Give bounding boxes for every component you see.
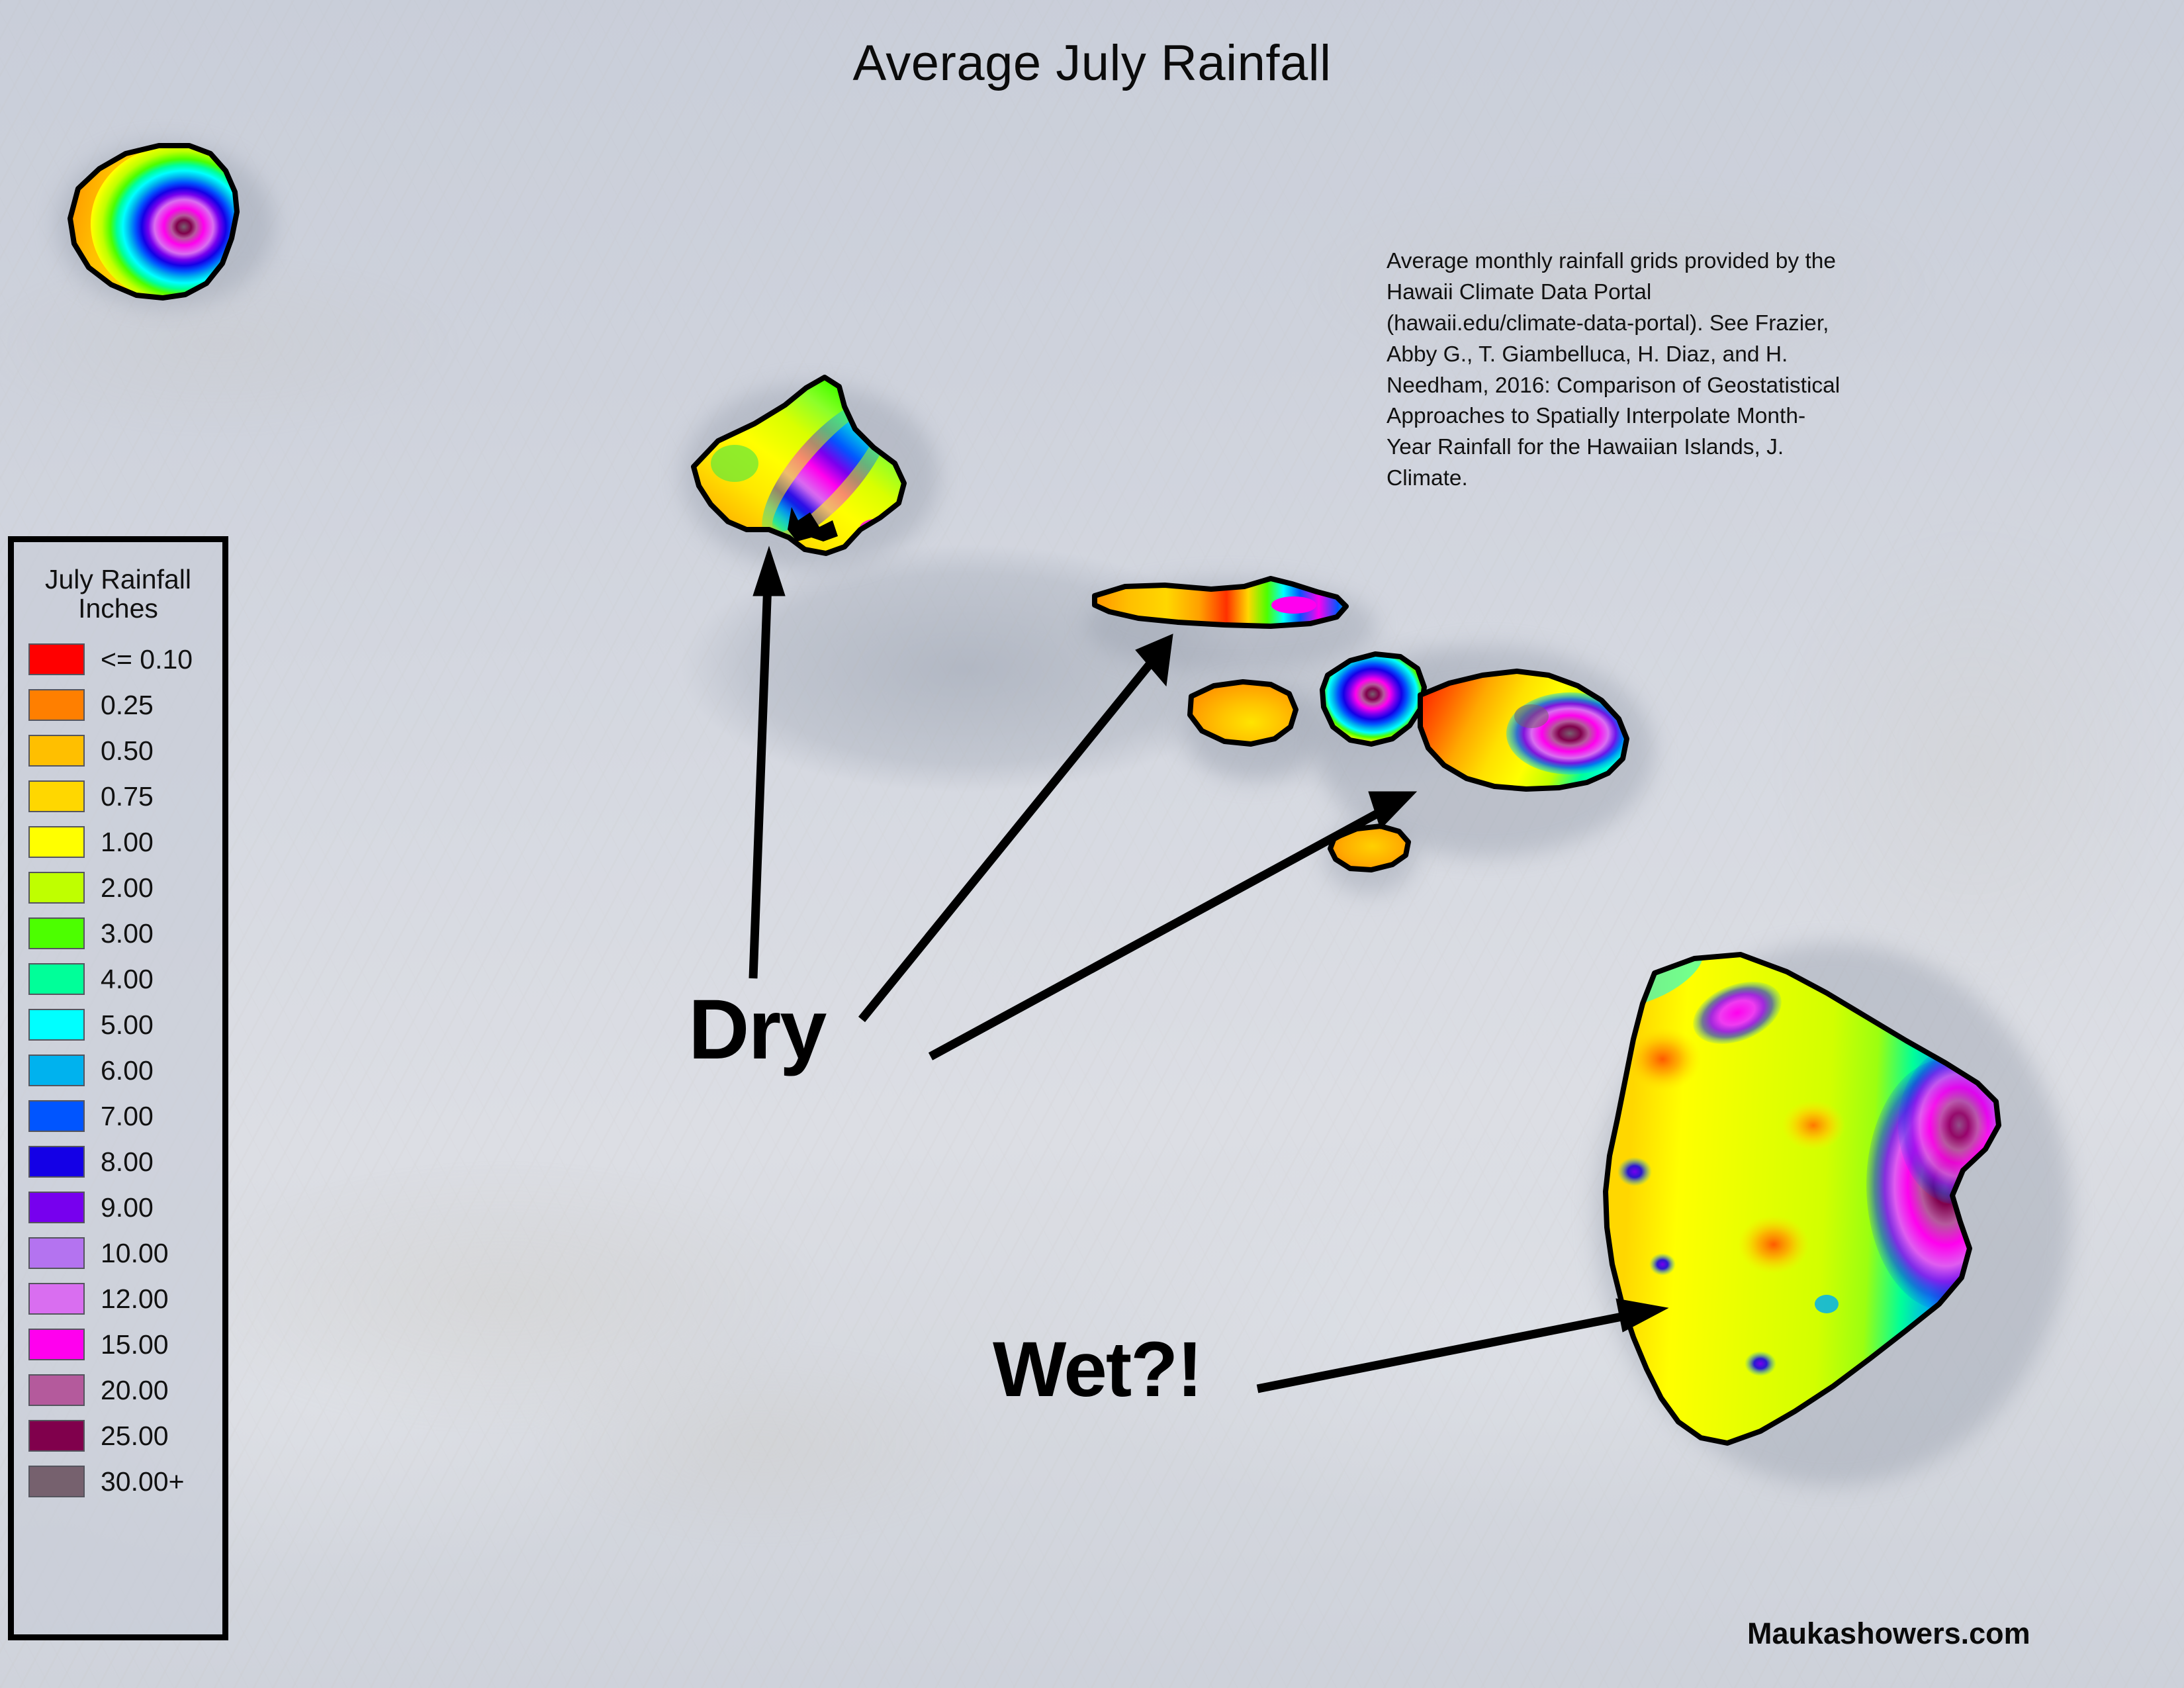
legend-title-line2: Inches <box>18 594 218 623</box>
legend-entry-label: 1.00 <box>101 827 154 858</box>
legend-color-swatch <box>28 1055 85 1086</box>
legend-entry: 7.00 <box>14 1094 222 1139</box>
legend-entry: <= 0.10 <box>14 637 222 682</box>
arrow-dry-to-oahu <box>753 547 785 978</box>
island-kauai <box>60 136 260 308</box>
legend-color-swatch <box>28 826 85 858</box>
legend-entry: 2.00 <box>14 865 222 911</box>
legend-color-swatch <box>28 1420 85 1452</box>
legend-color-swatch <box>28 780 85 812</box>
legend-color-swatch <box>28 1329 85 1360</box>
legend-color-swatch <box>28 689 85 721</box>
legend-entry-label: 0.75 <box>101 781 154 812</box>
legend-entry: 15.00 <box>14 1322 222 1368</box>
island-oahu <box>688 371 913 563</box>
legend-entry: 10.00 <box>14 1231 222 1276</box>
legend-entry-label: <= 0.10 <box>101 644 193 675</box>
legend-entry-label: 15.00 <box>101 1329 169 1360</box>
legend-entry-label: 6.00 <box>101 1055 154 1086</box>
legend-entry-label: 3.00 <box>101 918 154 949</box>
legend-entry: 0.50 <box>14 728 222 774</box>
arrow-dry-to-maui <box>931 792 1416 1056</box>
legend-entry: 9.00 <box>14 1185 222 1231</box>
legend-color-swatch <box>28 1374 85 1406</box>
annotation-label-wet: Wet?! <box>993 1331 1202 1409</box>
island-lanai <box>1185 675 1304 751</box>
island-west-maui <box>1312 645 1433 751</box>
island-kahoolawe <box>1327 821 1414 874</box>
legend-entry-label: 9.00 <box>101 1192 154 1223</box>
legend-entry-label: 8.00 <box>101 1147 154 1178</box>
legend-entry: 6.00 <box>14 1048 222 1094</box>
legend-color-swatch <box>28 1466 85 1497</box>
legend-title: July Rainfall Inches <box>14 565 222 624</box>
legend-entry-label: 20.00 <box>101 1375 169 1406</box>
legend-entry: 30.00+ <box>14 1459 222 1505</box>
site-watermark: Maukashowers.com <box>1747 1617 2030 1651</box>
legend-entry-label: 12.00 <box>101 1284 169 1315</box>
legend-color-swatch <box>28 1009 85 1041</box>
legend-entry-label: 2.00 <box>101 872 154 904</box>
page-title: Average July Rainfall <box>0 34 2184 92</box>
annotation-label-dry: Dry <box>688 988 825 1072</box>
legend-color-swatch <box>28 872 85 904</box>
legend-entry: 3.00 <box>14 911 222 957</box>
rainfall-map: Average July Rainfall Average monthly ra… <box>0 0 2184 1688</box>
legend-entry-label: 0.50 <box>101 735 154 767</box>
legend-color-swatch <box>28 1192 85 1223</box>
legend-color-swatch <box>28 735 85 767</box>
legend-entry: 12.00 <box>14 1276 222 1322</box>
legend-entry: 25.00 <box>14 1413 222 1459</box>
legend-entry: 0.75 <box>14 774 222 820</box>
legend-entry: 5.00 <box>14 1002 222 1048</box>
legend-entry-label: 0.25 <box>101 690 154 721</box>
island-rainfall-layer <box>0 0 2184 1688</box>
legend-color-swatch <box>28 1283 85 1315</box>
legend-title-line1: July Rainfall <box>18 565 218 594</box>
legend-entry: 8.00 <box>14 1139 222 1185</box>
legend-color-swatch <box>28 1237 85 1269</box>
legend-entry-label: 5.00 <box>101 1009 154 1041</box>
legend-entry: 1.00 <box>14 820 222 865</box>
legend-entry: 0.25 <box>14 682 222 728</box>
island-east-maui <box>1416 665 1635 798</box>
legend-panel: July Rainfall Inches <= 0.100.250.500.75… <box>8 536 228 1640</box>
legend-entry: 4.00 <box>14 957 222 1002</box>
legend-color-swatch <box>28 1100 85 1132</box>
legend-color-swatch <box>28 917 85 949</box>
legend-entry-list: <= 0.100.250.500.751.002.003.004.005.006… <box>14 637 222 1505</box>
arrow-dry-to-molokai <box>862 634 1173 1019</box>
legend-color-swatch <box>28 643 85 675</box>
legend-entry-label: 7.00 <box>101 1101 154 1132</box>
legend-color-swatch <box>28 963 85 995</box>
arrow-wet-to-hawaii <box>1257 1299 1668 1389</box>
legend-entry-label: 10.00 <box>101 1238 169 1269</box>
legend-entry-label: 30.00+ <box>101 1466 185 1497</box>
legend-entry-label: 4.00 <box>101 964 154 995</box>
legend-entry: 20.00 <box>14 1368 222 1413</box>
legend-color-swatch <box>28 1146 85 1178</box>
island-hawaii <box>1583 925 2025 1456</box>
attribution-text: Average monthly rainfall grids provided … <box>1387 246 1850 494</box>
island-molokai <box>1085 576 1357 635</box>
legend-entry-label: 25.00 <box>101 1421 169 1452</box>
